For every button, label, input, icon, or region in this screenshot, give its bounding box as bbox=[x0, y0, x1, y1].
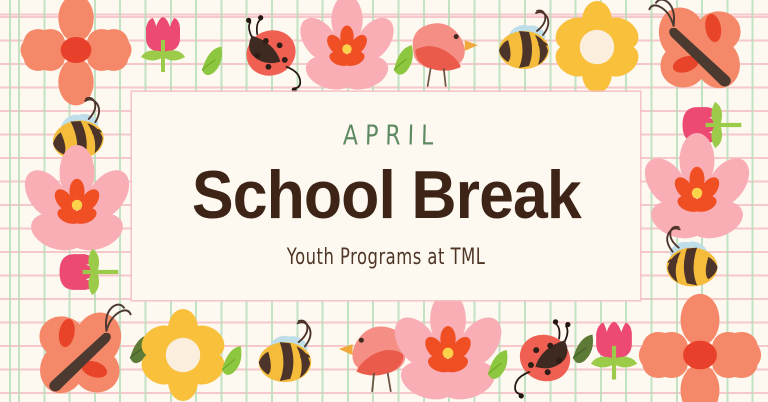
deco-bee-top bbox=[499, 11, 549, 70]
deco-leaf-green-bottom-1 bbox=[222, 344, 243, 376]
deco-flower-pink-top bbox=[292, 0, 401, 95]
deco-tulip-pink-bottom bbox=[591, 322, 637, 380]
deco-tulip-pink-top bbox=[141, 17, 185, 72]
deco-ladybug-bottom bbox=[513, 319, 577, 398]
deco-flower-daisy-coral-bottom bbox=[633, 294, 767, 402]
deco-flower-pink-left bbox=[16, 145, 138, 257]
deco-flower-yellow-bottom bbox=[136, 309, 231, 401]
poster-canvas: APRIL School Break Youth Programs at TML bbox=[0, 0, 768, 402]
deco-leaf-green-top-1 bbox=[201, 44, 223, 76]
deco-bee-bottom bbox=[259, 321, 312, 382]
deco-flower-pink-right bbox=[636, 133, 758, 245]
deco-butterfly-top bbox=[649, 0, 746, 94]
deco-ladybug-top bbox=[239, 15, 302, 92]
deco-tulip-side-left bbox=[60, 249, 119, 295]
page-title: School Break bbox=[192, 163, 581, 228]
deco-flower-pink-bottom bbox=[386, 292, 511, 402]
deco-leaf-green-top-2 bbox=[394, 44, 414, 75]
subtitle: Youth Programs at TML bbox=[287, 243, 486, 270]
deco-flower-yellow-top bbox=[550, 1, 645, 93]
deco-bird-top bbox=[413, 23, 478, 86]
deco-leaf-dark-bottom-2 bbox=[572, 332, 594, 364]
eyebrow-month: APRIL bbox=[335, 121, 440, 152]
deco-butterfly-bottom bbox=[34, 305, 131, 399]
deco-flower-daisy-coral-top bbox=[15, 0, 137, 105]
title-card: APRIL School Break Youth Programs at TML bbox=[132, 92, 640, 300]
